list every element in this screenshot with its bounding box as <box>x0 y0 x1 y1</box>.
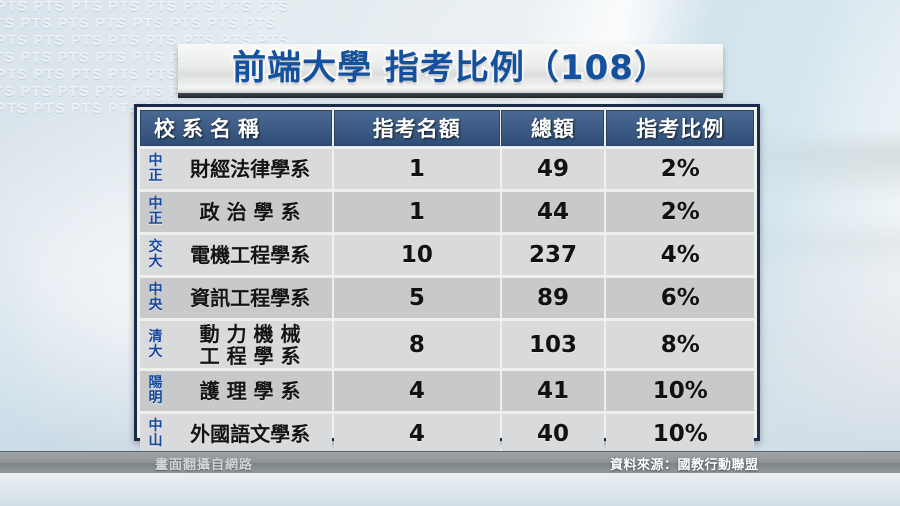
lower-screen-area <box>0 473 900 506</box>
dept-name: 外國語文學系 <box>172 423 332 445</box>
column-header-quota: 指考名額 <box>334 110 499 146</box>
cell-school-dept: 交 大 電機工程學系 <box>140 235 332 275</box>
cell-quota: 8 <box>334 321 499 368</box>
cell-ratio: 6% <box>606 278 754 318</box>
dept-name: 護 理 學 系 <box>172 380 332 402</box>
school-abbr: 中 正 <box>146 154 165 184</box>
dept-name-line1: 動 力 機 械 <box>172 323 328 345</box>
dept-name-line1: 護 理 學 系 <box>200 379 301 403</box>
cell-ratio: 10% <box>606 414 754 454</box>
cell-quota: 1 <box>334 149 499 189</box>
page-title: 前端大學 指考比例（108） <box>232 51 669 85</box>
cell-ratio: 10% <box>606 371 754 411</box>
cell-total: 237 <box>502 235 605 275</box>
cell-total: 44 <box>502 192 605 232</box>
cell-total: 89 <box>502 278 605 318</box>
school-abbr-char: 央 <box>149 298 163 313</box>
footer-credit-left: 畫面翻攝自網路 <box>155 454 253 473</box>
dept-name: 財經法律學系 <box>172 158 332 180</box>
cell-total: 40 <box>502 414 605 454</box>
footer-source-right: 資料來源：國教行動聯盟 <box>610 454 759 473</box>
cell-total: 49 <box>502 149 605 189</box>
school-abbr-char: 正 <box>149 212 163 227</box>
table-row: 中 正 政 治 學 系 1 44 2% <box>140 192 754 232</box>
cell-ratio: 2% <box>606 149 754 189</box>
column-header-school-dept: 校系名稱 <box>140 110 332 146</box>
table-row: 陽 明 護 理 學 系 4 41 10% <box>140 371 754 411</box>
dept-name-line1: 外國語文學系 <box>190 422 310 446</box>
school-abbr-char: 中 <box>149 154 163 169</box>
cell-school-dept: 中 正 政 治 學 系 <box>140 192 332 232</box>
school-abbr-char: 山 <box>149 434 163 449</box>
data-table: 校系名稱 指考名額 總額 指考比例 中 正 財經法律學系 1 49 2% 中 <box>134 104 760 441</box>
column-header-total: 總額 <box>501 110 604 146</box>
school-abbr: 中 山 <box>146 419 165 449</box>
cell-total: 41 <box>502 371 605 411</box>
school-abbr-char: 明 <box>149 391 163 406</box>
cell-school-dept: 陽 明 護 理 學 系 <box>140 371 332 411</box>
dept-name-line1: 財經法律學系 <box>190 157 310 181</box>
school-abbr-char: 清 <box>149 330 163 345</box>
school-abbr: 中 央 <box>146 283 165 313</box>
cell-ratio: 4% <box>606 235 754 275</box>
table-header-row: 校系名稱 指考名額 總額 指考比例 <box>140 110 754 146</box>
dept-name-line1: 電機工程學系 <box>190 243 310 267</box>
school-abbr-char: 交 <box>149 240 163 255</box>
cell-school-dept: 中 山 外國語文學系 <box>140 414 332 454</box>
dept-name-line1: 資訊工程學系 <box>190 286 310 310</box>
school-abbr: 清 大 <box>146 330 165 360</box>
school-abbr: 陽 明 <box>146 376 165 406</box>
school-abbr-char: 陽 <box>149 376 163 391</box>
school-abbr-char: 中 <box>149 419 163 434</box>
cell-school-dept: 中 正 財經法律學系 <box>140 149 332 189</box>
cell-ratio: 2% <box>606 192 754 232</box>
dept-name: 資訊工程學系 <box>172 287 332 309</box>
column-header-ratio: 指考比例 <box>606 110 754 146</box>
school-abbr-char: 中 <box>149 283 163 298</box>
table-row: 交 大 電機工程學系 10 237 4% <box>140 235 754 275</box>
cell-quota: 1 <box>334 192 499 232</box>
cell-school-dept: 清 大 動 力 機 械 工 程 學 系 <box>140 321 332 368</box>
school-abbr-char: 大 <box>149 255 163 270</box>
table-row: 清 大 動 力 機 械 工 程 學 系 8 103 8% <box>140 321 754 368</box>
cell-school-dept: 中 央 資訊工程學系 <box>140 278 332 318</box>
cell-total: 103 <box>502 321 605 368</box>
footer-bar: 畫面翻攝自網路 資料來源：國教行動聯盟 <box>0 451 900 475</box>
school-abbr-char: 中 <box>149 197 163 212</box>
dept-name: 政 治 學 系 <box>172 201 332 223</box>
table-row: 中 央 資訊工程學系 5 89 6% <box>140 278 754 318</box>
title-plaque: 前端大學 指考比例（108） <box>178 44 723 93</box>
school-abbr-char: 正 <box>149 169 163 184</box>
school-abbr: 中 正 <box>146 197 165 227</box>
cell-quota: 4 <box>334 371 499 411</box>
dept-name-line2: 工 程 學 系 <box>172 345 328 367</box>
dept-name: 動 力 機 械 工 程 學 系 <box>172 323 332 367</box>
dept-name: 電機工程學系 <box>172 244 332 266</box>
school-abbr-char: 大 <box>149 345 163 360</box>
cell-quota: 5 <box>334 278 499 318</box>
cell-ratio: 8% <box>606 321 754 368</box>
table-row: 中 正 財經法律學系 1 49 2% <box>140 149 754 189</box>
table-row: 中 山 外國語文學系 4 40 10% <box>140 414 754 454</box>
dept-name-line1: 政 治 學 系 <box>200 200 301 224</box>
cell-quota: 10 <box>334 235 499 275</box>
school-abbr: 交 大 <box>146 240 165 270</box>
cell-quota: 4 <box>334 414 499 454</box>
